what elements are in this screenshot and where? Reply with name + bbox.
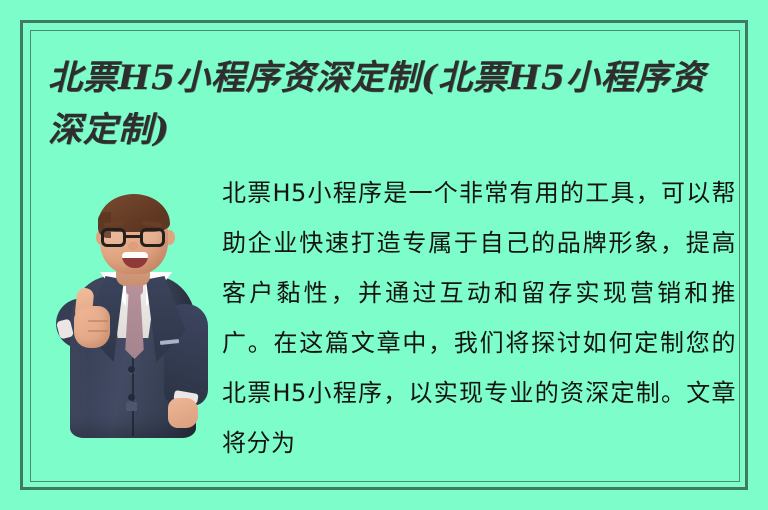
knuckle-line-bottom — [88, 330, 108, 332]
hand-left-fist — [74, 306, 110, 348]
eyeglass-lens-left — [101, 228, 126, 247]
eyeglass-lens-right — [140, 228, 165, 247]
page-title: 北票H5小程序资深定制(北票H5小程序资深定制) — [48, 52, 738, 156]
article-banner: 北票H5小程序资深定制(北票H5小程序资深定制) — [0, 0, 768, 510]
jacket-button-bottom — [128, 394, 135, 401]
article-body-text: 北票H5小程序是一个非常有用的工具，可以帮助企业快速打造专属于自己的品牌形象，提… — [222, 168, 736, 468]
illustration-businessman-thumbs-up — [48, 180, 224, 436]
jacket-button-top — [128, 366, 135, 373]
eyeglass-bridge — [126, 235, 140, 238]
article-content: 北票H5小程序是一个非常有用的工具，可以帮助企业快速打造专属于自己的品牌形象，提… — [36, 168, 736, 478]
side-pocket — [126, 402, 137, 411]
nose — [128, 242, 138, 250]
knuckle-line-top — [88, 320, 108, 322]
character-figure — [48, 180, 224, 436]
teeth — [122, 252, 148, 258]
hand-right-on-hip — [168, 398, 198, 428]
